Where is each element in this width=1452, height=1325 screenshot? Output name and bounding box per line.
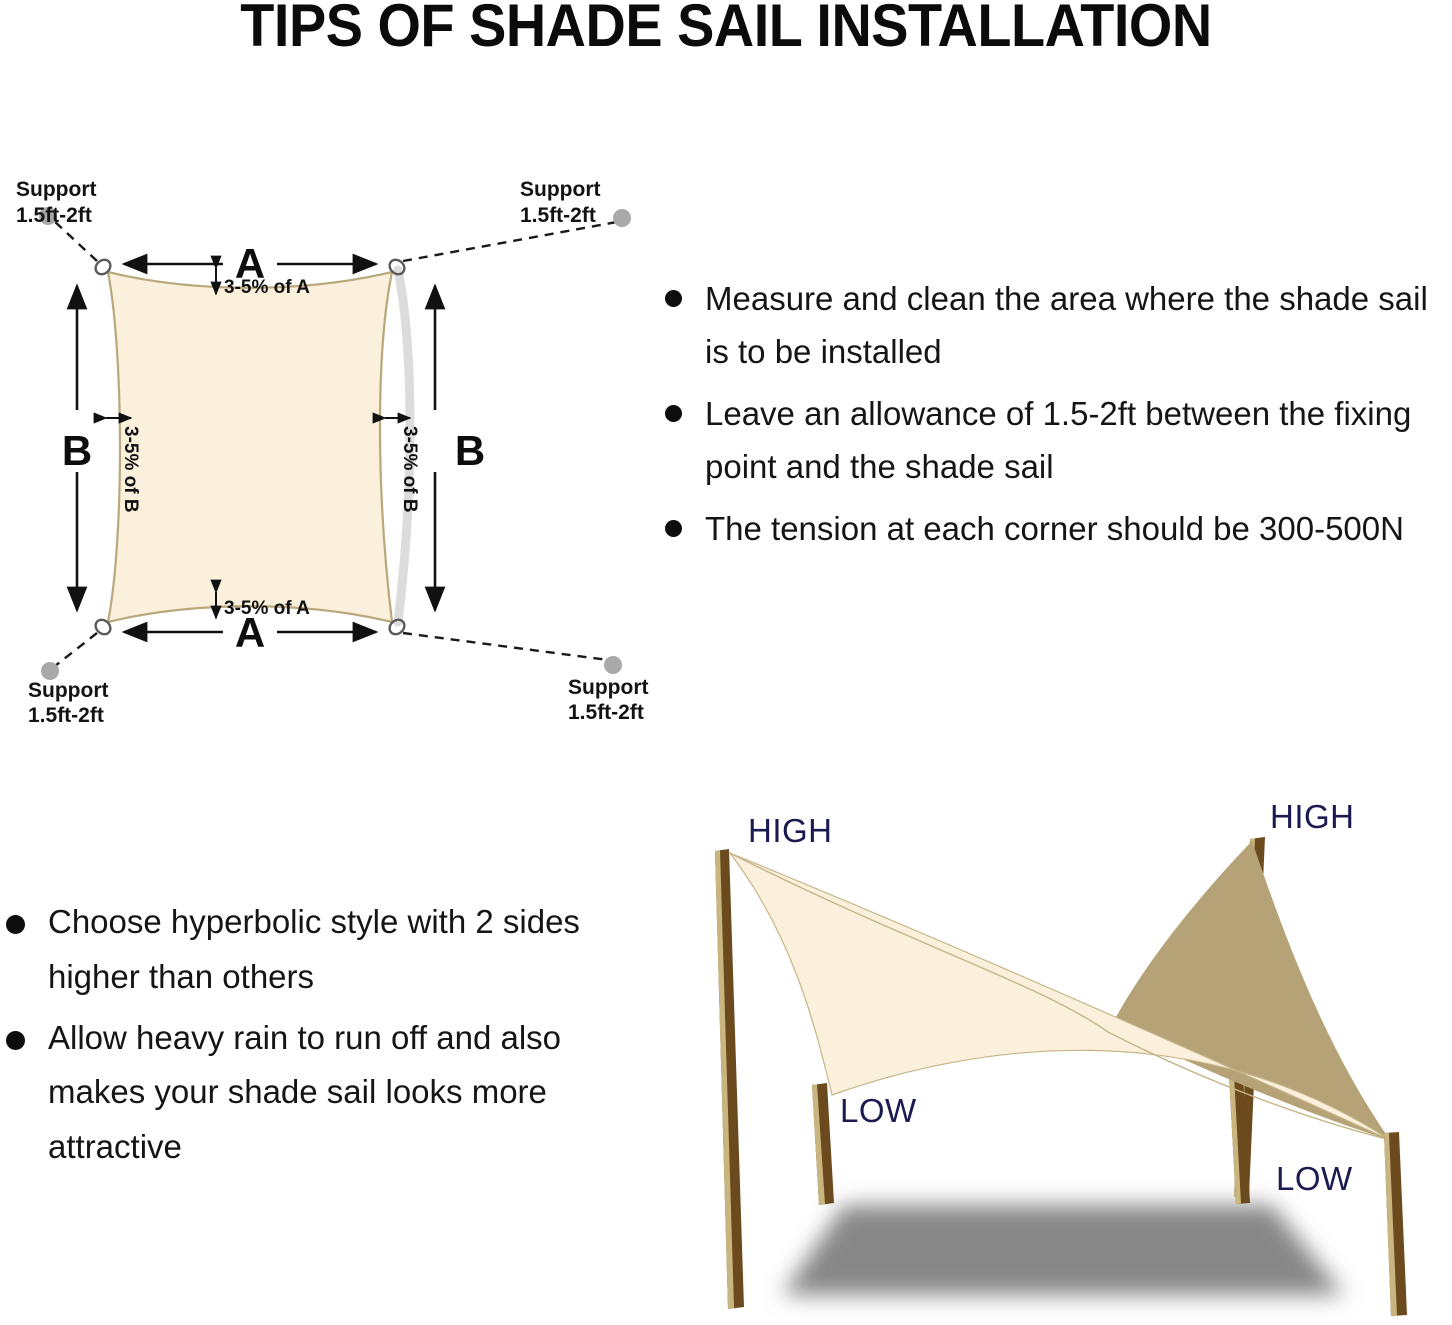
rect-sail-diagram: Support 1.5ft-2ft Support 1.5ft-2ft Supp… (0, 160, 660, 740)
tip-text: Allow heavy rain to run off and also mak… (48, 1019, 561, 1166)
dimension-label-b-left: B (62, 427, 92, 474)
tip-text: Choose hyperbolic style with 2 sides hig… (48, 903, 580, 995)
post-low-left (812, 1083, 834, 1205)
curve-callout-left: 3-5% of B (106, 418, 141, 513)
label-low-right: LOW (1276, 1160, 1353, 1197)
tip-item: The tension at each corner should be 300… (655, 502, 1452, 555)
tip-item: Allow heavy rain to run off and also mak… (0, 1011, 625, 1175)
tip-item: Measure and clean the area where the sha… (655, 272, 1452, 379)
ground-shadow (782, 1205, 1344, 1295)
post-low-right (1384, 1132, 1407, 1316)
curve-label-right: 3-5% of B (399, 426, 420, 513)
tips-bottom-list: Choose hyperbolic style with 2 sides hig… (0, 895, 625, 1181)
dimension-label-b-right: B (455, 427, 485, 474)
support-label-bottom-right-line1: Support (568, 676, 648, 699)
tip-item: Choose hyperbolic style with 2 sides hig… (0, 895, 625, 1005)
curve-label-top: 3-5% of A (224, 277, 310, 298)
support-label-bottom-right-line2: 1.5ft-2ft (568, 701, 644, 724)
hyperbolic-sail-illustration: HIGH HIGH LOW LOW (672, 795, 1452, 1325)
support-label-bottom-left-line2: 1.5ft-2ft (28, 704, 104, 727)
dimension-b-right: B (435, 286, 485, 610)
support-label-top-left-line2: 1.5ft-2ft (16, 204, 92, 227)
tip-item: Leave an allowance of 1.5-2ft between th… (655, 387, 1452, 494)
sail-shape (108, 272, 392, 622)
post-high-left (715, 849, 744, 1309)
support-label-bottom-left-line1: Support (28, 679, 108, 702)
bullet-icon (665, 520, 682, 537)
support-dot-bottom-right (604, 656, 622, 674)
page-title: TIPS OF SHADE SAIL INSTALLATION (51, 0, 1401, 56)
bullet-icon (6, 1031, 25, 1050)
support-label-top-right-line1: Support (520, 178, 600, 201)
support-dot-bottom-left (41, 662, 59, 680)
tip-text: Measure and clean the area where the sha… (705, 280, 1428, 370)
bullet-icon (6, 915, 25, 934)
curve-callout-right: 3-5% of B (385, 418, 420, 513)
tips-top-list: Measure and clean the area where the sha… (655, 272, 1452, 563)
support-label-top-left-line1: Support (16, 178, 96, 201)
tip-text: The tension at each corner should be 300… (705, 510, 1404, 547)
support-label-top-right-line2: 1.5ft-2ft (520, 204, 596, 227)
curve-label-left: 3-5% of B (120, 426, 141, 513)
bullet-icon (665, 405, 682, 422)
label-high-left: HIGH (748, 812, 833, 849)
tip-text: Leave an allowance of 1.5-2ft between th… (705, 395, 1411, 485)
curve-label-bottom: 3-5% of A (224, 598, 310, 619)
support-dot-top-right (613, 209, 631, 227)
bullet-icon (665, 290, 682, 307)
dimension-b-left: B (62, 286, 92, 610)
infographic-page: TIPS OF SHADE SAIL INSTALLATION (0, 0, 1452, 1325)
label-high-right: HIGH (1270, 798, 1355, 835)
label-low-left: LOW (840, 1092, 917, 1129)
